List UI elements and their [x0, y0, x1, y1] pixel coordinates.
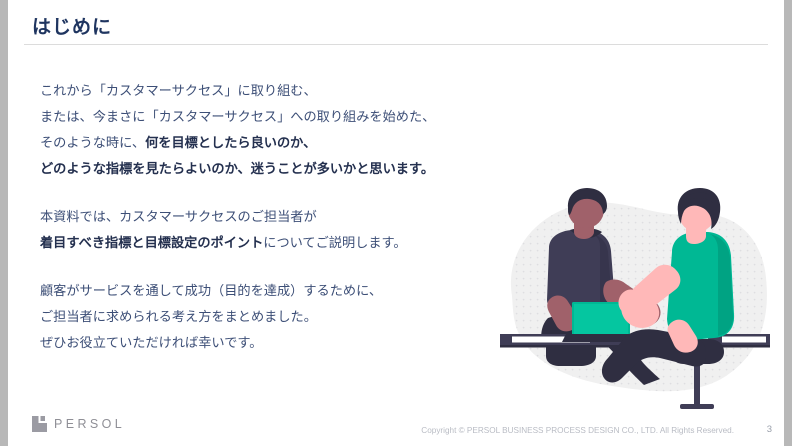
body-paragraph: これから「カスタマーサクセス」に取り組む、または、今まさに「カスタマーサクセス」…	[40, 78, 500, 182]
page-title: はじめに	[32, 12, 112, 39]
body-line: 本資料では、カスタマーサクセスのご担当者が	[40, 204, 500, 230]
body-line: 顧客がサービスを通して成功（目的を達成）するために、	[40, 278, 500, 304]
body-line: 着目すべき指標と目標設定のポイントについてご説明します。	[40, 230, 500, 256]
body-text-run: そのような時に、	[40, 135, 145, 150]
body-text-run: ご担当者に求められる考え方をまとめました。	[40, 309, 317, 324]
body-paragraph: 顧客がサービスを通して成功（目的を達成）するために、ご担当者に求められる考え方を…	[40, 278, 500, 356]
body-text-run: ぜひお役立ていただければ幸いです。	[40, 335, 262, 350]
body-text-run: についてご説明します。	[263, 235, 406, 250]
body-line: これから「カスタマーサクセス」に取り組む、	[40, 78, 500, 104]
body-text-run: 本資料では、カスタマーサクセスのご担当者が	[40, 209, 317, 224]
persol-square-mark	[32, 416, 47, 432]
body-text-run: または、今まさに「カスタマーサクセス」への取り組みを始めた、	[40, 109, 435, 124]
two-people-handshake-illustration	[494, 186, 784, 411]
body-text-run: 顧客がサービスを通して成功（目的を達成）するために、	[40, 283, 382, 298]
title-divider	[24, 44, 768, 45]
body-line: どのような指標を見たらよいのか、迷うことが多いかと思います。	[40, 156, 500, 182]
body-text-run: これから「カスタマーサクセス」に取り組む、	[40, 83, 317, 98]
body-text-emphasis: 何を目標としたら良いのか、	[145, 135, 316, 150]
body-line: ご担当者に求められる考え方をまとめました。	[40, 304, 500, 330]
body-line: ぜひお役立ていただければ幸いです。	[40, 330, 500, 356]
persol-logo: PERSOL	[32, 416, 125, 432]
body-line: または、今まさに「カスタマーサクセス」への取り組みを始めた、	[40, 104, 500, 130]
body-copy: これから「カスタマーサクセス」に取り組む、または、今まさに「カスタマーサクセス」…	[40, 78, 500, 356]
slide-viewport: はじめに これから「カスタマーサクセス」に取り組む、または、今まさに「カスタマー…	[0, 0, 792, 446]
body-line: そのような時に、何を目標としたら良いのか、	[40, 130, 500, 156]
page-number: 3	[767, 424, 772, 435]
body-paragraph: 本資料では、カスタマーサクセスのご担当者が着目すべき指標と目標設定のポイントにつ…	[40, 204, 500, 256]
copyright-text: Copyright © PERSOL BUSINESS PROCESS DESI…	[421, 426, 734, 435]
slide: はじめに これから「カスタマーサクセス」に取り組む、または、今まさに「カスタマー…	[8, 0, 784, 446]
body-text-emphasis: 着目すべき指標と目標設定のポイント	[40, 235, 263, 250]
body-text-emphasis: どのような指標を見たらよいのか、迷うことが多いかと思います。	[40, 161, 434, 176]
persol-logo-text: PERSOL	[54, 417, 125, 431]
